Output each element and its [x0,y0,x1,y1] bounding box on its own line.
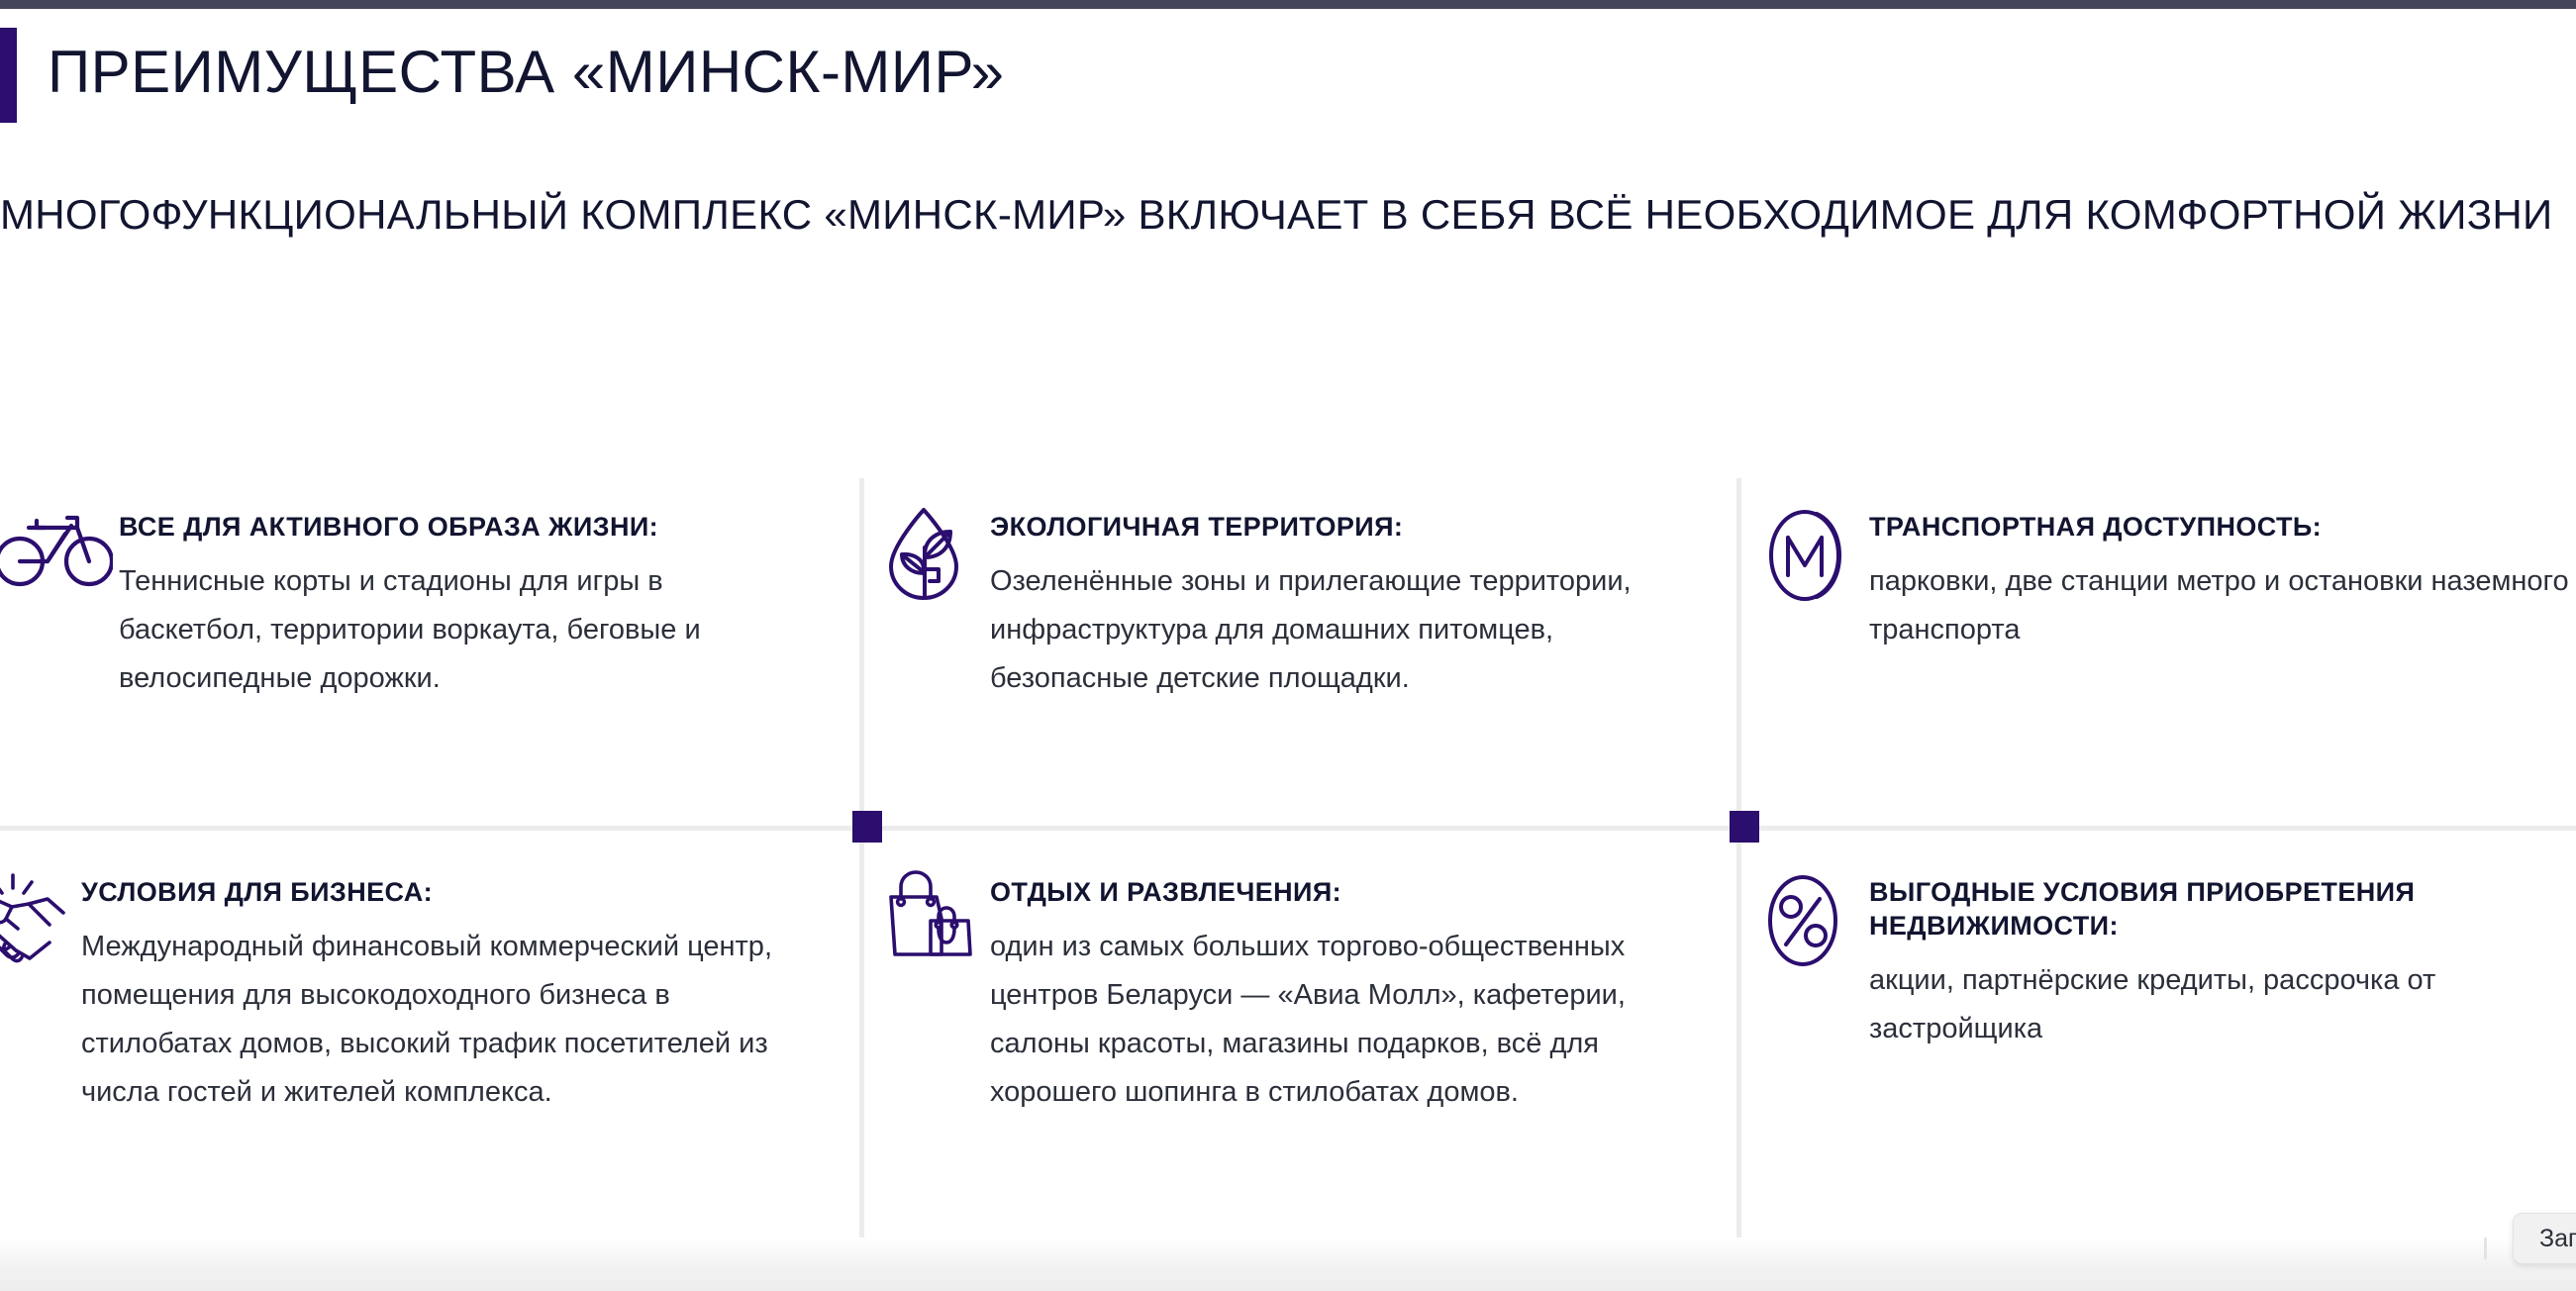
advantage-text: один из самых больших торгово-общественн… [990,923,1695,1117]
page-heading: ПРЕИМУЩЕСТВА «МИНСК-МИР» [0,28,2576,123]
advantage-body: ОТДЫХ И РАЗВЛЕЧЕНИЯ: один из самых больш… [990,861,1695,1117]
advantage-text: акции, партнёрские кредиты, рассрочка от… [1869,956,2572,1053]
shopping-bags-icon [881,861,990,990]
advantage-card-transport: ТРАНСПОРТНАЯ ДОСТУПНОСТЬ: парковки, две … [1740,496,2572,654]
page-subtitle: МНОГОФУНКЦИОНАЛЬНЫЙ КОМПЛЕКС «МИНСК-МИР»… [0,176,2554,253]
browser-chrome-strip [0,0,2576,9]
advantage-text: Международный финансовый коммерческий це… [81,923,784,1117]
percent-icon [1760,861,1869,990]
advantage-text: Теннисные корты и стадионы для игры в ба… [119,557,784,703]
page-root: ПРЕИМУЩЕСТВА «МИНСК-МИР» МНОГОФУНКЦИОНАЛ… [0,0,2576,1291]
advantage-card-eco-territory: ЭКОЛОГИЧНАЯ ТЕРРИТОРИЯ: Озеленённые зоны… [863,496,1695,703]
advantage-title: УСЛОВИЯ ДЛЯ БИЗНЕСА: [81,875,784,909]
advantage-card-purchase-terms: ВЫГОДНЫЕ УСЛОВИЯ ПРИОБРЕТЕНИЯ НЕДВИЖИМОС… [1740,861,2572,1053]
advantage-body: ТРАНСПОРТНАЯ ДОСТУПНОСТЬ: парковки, две … [1869,496,2572,654]
advantage-text: Озеленённые зоны и прилегающие территори… [990,557,1695,703]
page-bottom-band [0,1238,2576,1291]
advantage-body: УСЛОВИЯ ДЛЯ БИЗНЕСА: Международный финан… [81,861,784,1117]
callback-request-button[interactable]: Зап [2513,1213,2576,1264]
advantage-body: ВСЕ ДЛЯ АКТИВНОГО ОБРАЗА ЖИЗНИ: Теннисны… [119,496,784,703]
grid-intersection-marker-2 [1730,811,1759,843]
grid-divider-horizontal [0,826,2576,831]
advantage-body: ВЫГОДНЫЕ УСЛОВИЯ ПРИОБРЕТЕНИЯ НЕДВИЖИМОС… [1869,861,2572,1053]
advantage-card-leisure: ОТДЫХ И РАЗВЛЕЧЕНИЯ: один из самых больш… [863,861,1695,1117]
advantage-title: ОТДЫХ И РАЗВЛЕЧЕНИЯ: [990,875,1695,909]
advantages-grid: ВСЕ ДЛЯ АКТИВНОГО ОБРАЗА ЖИЗНИ: Теннисны… [0,478,2576,1245]
advantage-title: ТРАНСПОРТНАЯ ДОСТУПНОСТЬ: [1869,510,2572,544]
advantage-body: ЭКОЛОГИЧНАЯ ТЕРРИТОРИЯ: Озеленённые зоны… [990,496,1695,703]
advantage-title: ЭКОЛОГИЧНАЯ ТЕРРИТОРИЯ: [990,510,1695,544]
eco-droplet-plant-icon [881,496,990,625]
title-accent-bar [0,28,17,123]
page-title: ПРЕИМУЩЕСТВА «МИНСК-МИР» [48,34,1005,111]
bicycle-icon [0,496,119,625]
advantage-title: ВСЕ ДЛЯ АКТИВНОГО ОБРАЗА ЖИЗНИ: [119,510,784,544]
bottom-band-edge-line [2484,1238,2487,1259]
metro-icon [1760,496,1869,625]
handshake-icon [0,861,81,990]
advantage-text: парковки, две станции метро и остановки … [1869,557,2572,654]
advantage-card-active-lifestyle: ВСЕ ДЛЯ АКТИВНОГО ОБРАЗА ЖИЗНИ: Теннисны… [0,496,784,703]
grid-intersection-marker-1 [852,811,882,843]
advantage-title: ВЫГОДНЫЕ УСЛОВИЯ ПРИОБРЕТЕНИЯ НЕДВИЖИМОС… [1869,875,2572,943]
advantage-card-business: УСЛОВИЯ ДЛЯ БИЗНЕСА: Международный финан… [0,861,784,1117]
